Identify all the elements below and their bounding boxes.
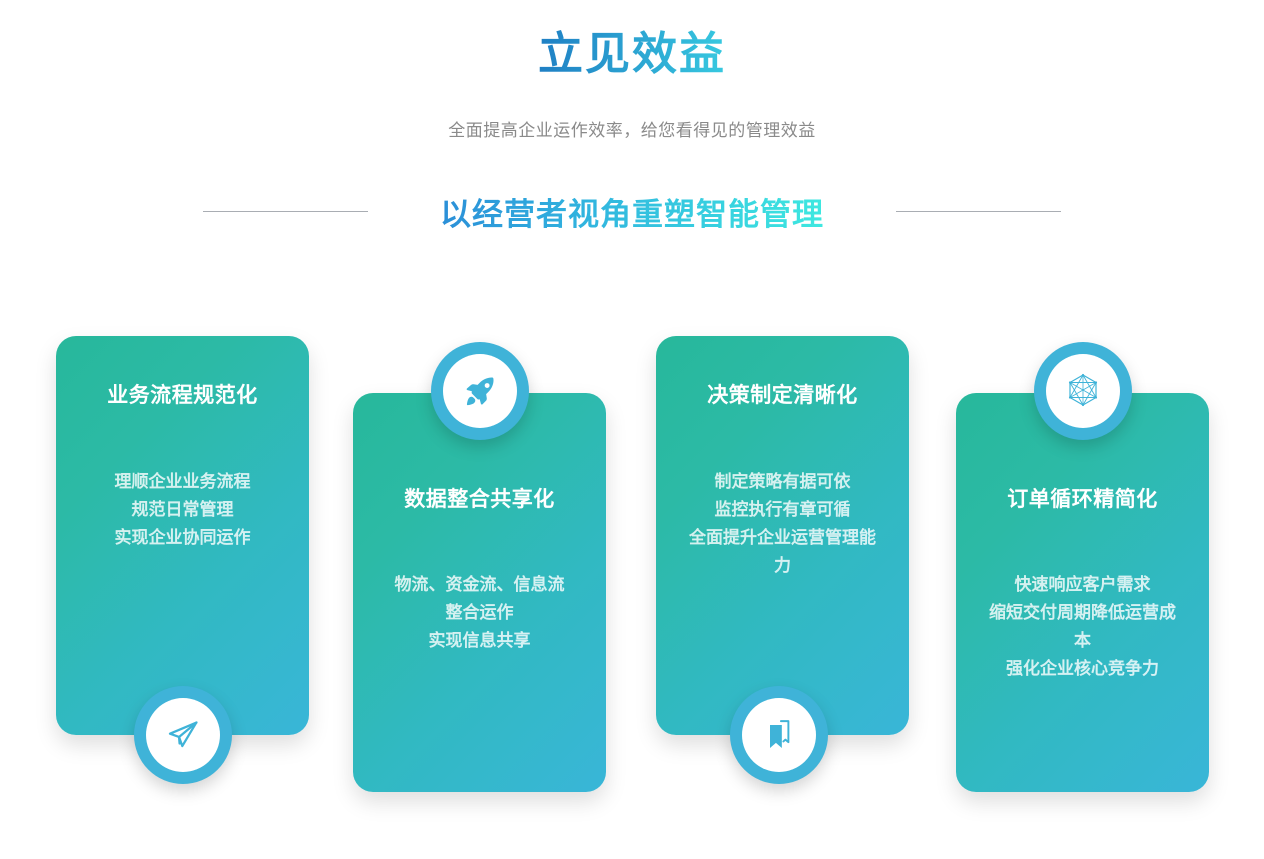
card-icon-badge [1034, 342, 1132, 440]
card-title: 订单循环精简化 [972, 486, 1193, 513]
feature-card[interactable]: 决策制定清晰化 制定策略有据可依监控执行有章可循全面提升企业运营管理能力 [656, 336, 909, 735]
card-surface: 业务流程规范化 理顺企业业务流程规范日常管理实现企业协同运作 [56, 336, 309, 735]
card-icon-badge [134, 686, 232, 784]
page-subtitle: 全面提高企业运作效率，给您看得见的管理效益 [0, 116, 1264, 141]
card-surface: 数据整合共享化 物流、资金流、信息流整合运作实现信息共享 [353, 393, 606, 792]
card-icon-badge [431, 342, 529, 440]
feature-card[interactable]: 业务流程规范化 理顺企业业务流程规范日常管理实现企业协同运作 [56, 336, 309, 735]
card-icon-badge [730, 686, 828, 784]
paper-plane-icon [166, 718, 200, 752]
card-body: 理顺企业业务流程规范日常管理实现企业协同运作 [66, 468, 299, 552]
feature-card[interactable]: 数据整合共享化 物流、资金流、信息流整合运作实现信息共享 [353, 393, 606, 792]
section-heading: 以经营者视角重塑智能管理 [0, 189, 1264, 234]
feature-card[interactable]: 订单循环精简化 快速响应客户需求缩短交付周期降低运营成本强化企业核心竞争力 [956, 393, 1209, 792]
card-surface: 订单循环精简化 快速响应客户需求缩短交付周期降低运营成本强化企业核心竞争力 [956, 393, 1209, 792]
rocket-icon [462, 373, 498, 409]
hexagon-network-icon [1063, 371, 1103, 411]
card-title: 决策制定清晰化 [672, 382, 893, 409]
divider-line-right [896, 211, 1061, 212]
card-title: 业务流程规范化 [72, 382, 293, 409]
page-header: 立见效益 全面提高企业运作效率，给您看得见的管理效益 以经营者视角重塑智能管理 [0, 0, 1264, 234]
card-surface: 决策制定清晰化 制定策略有据可依监控执行有章可循全面提升企业运营管理能力 [656, 336, 909, 735]
section-title: 以经营者视角重塑智能管理 [440, 189, 824, 234]
feature-card-list: 业务流程规范化 理顺企业业务流程规范日常管理实现企业协同运作 数据整合共享化 [0, 320, 1264, 820]
card-body: 物流、资金流、信息流整合运作实现信息共享 [363, 571, 596, 655]
page-title: 立见效益 [538, 26, 726, 82]
divider-line-left [203, 211, 368, 212]
bookmark-icon [763, 717, 795, 753]
card-body: 制定策略有据可依监控执行有章可循全面提升企业运营管理能力 [666, 468, 899, 580]
card-body: 快速响应客户需求缩短交付周期降低运营成本强化企业核心竞争力 [966, 571, 1199, 683]
card-title: 数据整合共享化 [369, 486, 590, 513]
